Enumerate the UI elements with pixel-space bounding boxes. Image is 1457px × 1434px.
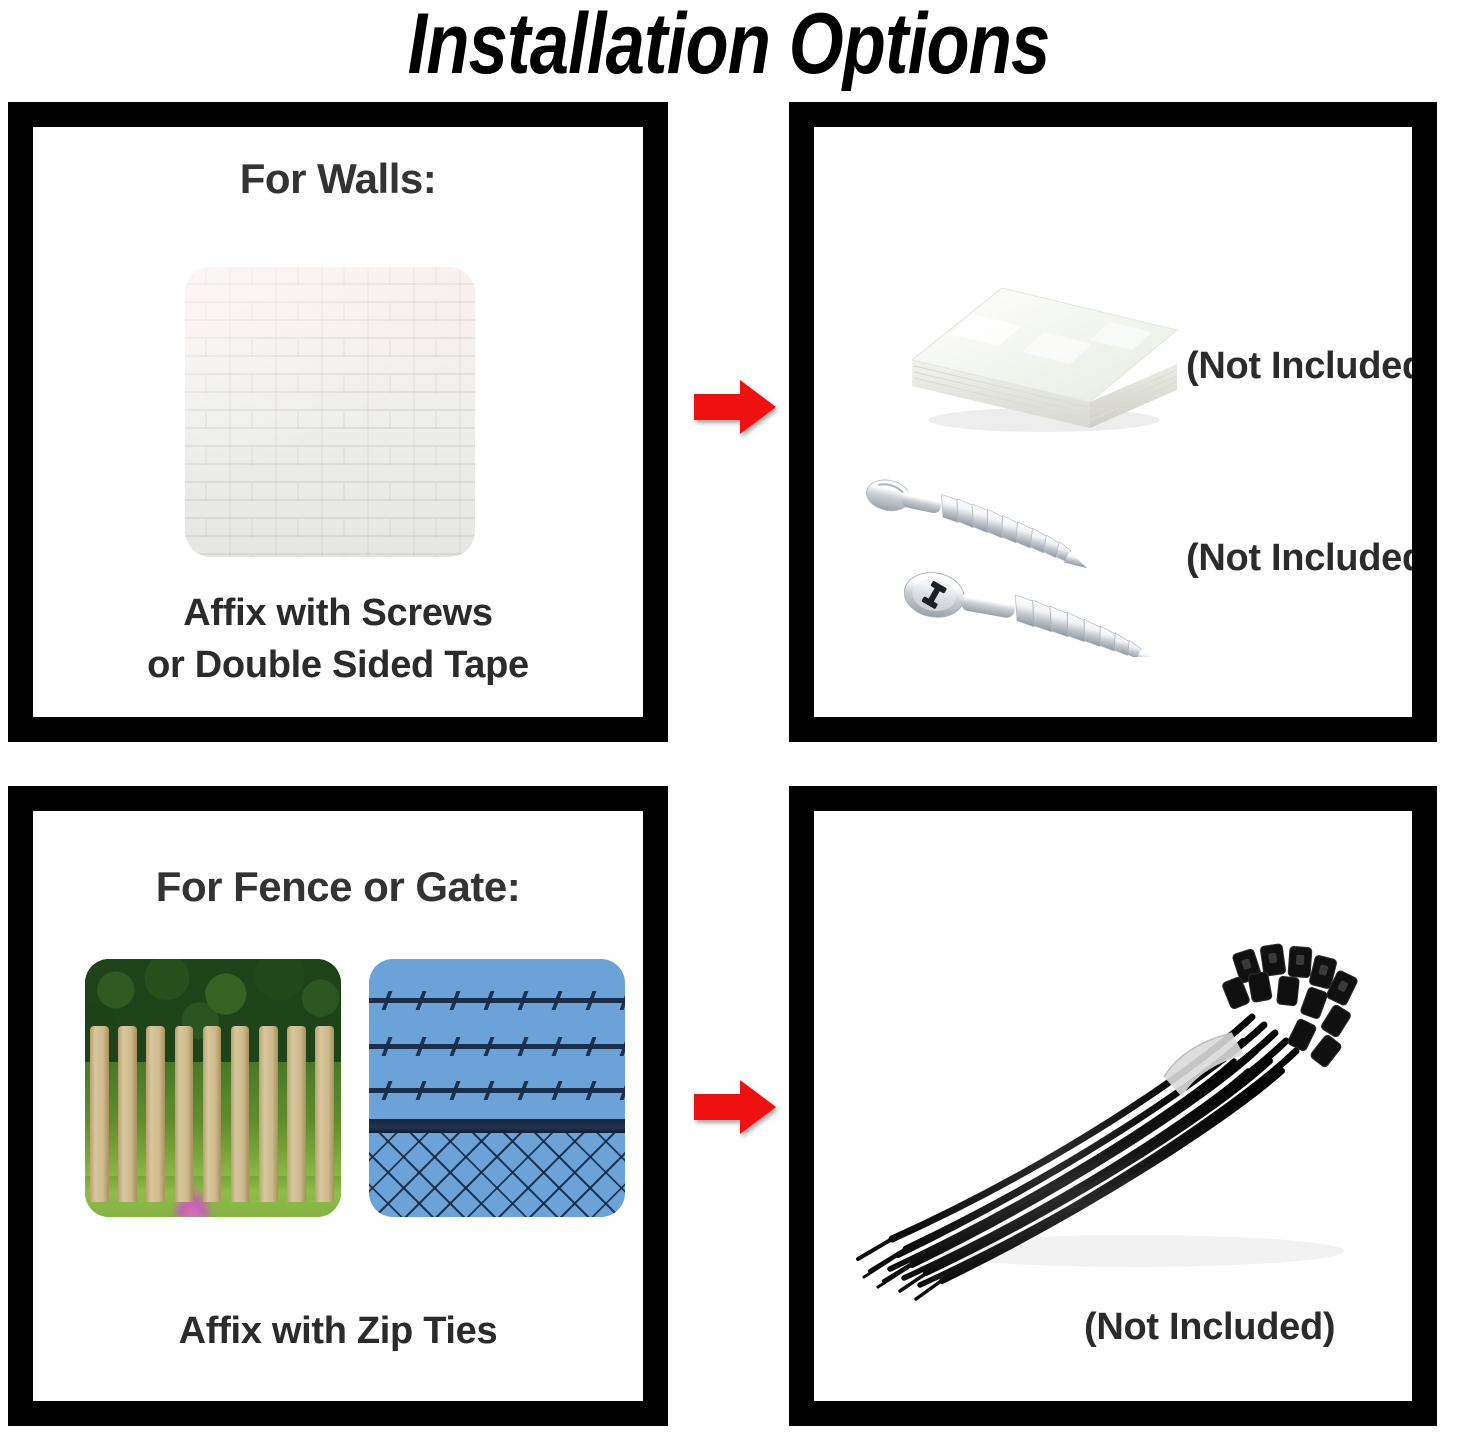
panel-heading-walls: For Walls:	[33, 155, 643, 203]
white-brick-wall-photo	[185, 267, 475, 557]
panel-zip-ties: (Not Included)	[789, 786, 1437, 1426]
double-sided-tape-stack-image	[894, 252, 1194, 437]
wooden-picket-fence-photo	[85, 959, 341, 1217]
panel-caption-walls: Affix with Screws or Double Sided Tape	[33, 587, 643, 691]
black-zip-tie-bundle-image	[834, 921, 1374, 1311]
panel-for-fence-or-gate: For Fence or Gate:	[8, 786, 668, 1426]
wood-screws-image	[836, 457, 1196, 657]
not-included-label-tape: (Not Included)	[1186, 345, 1412, 388]
not-included-label-zipties: (Not Included)	[1084, 1306, 1335, 1349]
not-included-label-screws: (Not Included)	[1186, 537, 1412, 580]
page-title: Installation Options	[131, 0, 1326, 92]
caption-line-2: or Double Sided Tape	[33, 639, 643, 691]
panel-heading-fence: For Fence or Gate:	[33, 863, 643, 911]
arrow-right-icon	[694, 1078, 776, 1136]
chain-link-fence-photo	[369, 959, 625, 1217]
installation-options-infographic: Installation Options For Walls: Affix wi…	[0, 0, 1457, 1434]
panel-for-walls: For Walls: Affix with Screws or Double S…	[8, 102, 668, 742]
panel-caption-fence: Affix with Zip Ties	[33, 1305, 643, 1357]
caption-line-1: Affix with Screws	[33, 587, 643, 639]
arrow-right-icon	[694, 378, 776, 436]
panel-wall-hardware: (Not Included)	[789, 102, 1437, 742]
